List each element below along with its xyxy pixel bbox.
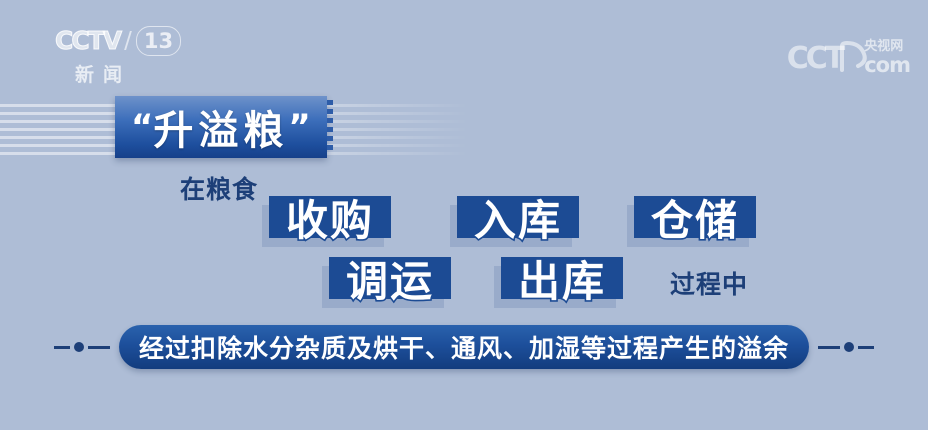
deco-bar-icon [54,346,70,349]
page-title: 升溢粮 [153,98,288,156]
left-decoration [54,342,110,352]
deco-bar-icon [88,346,110,349]
chip-label: 收购 [269,187,391,247]
keyword-chip-ruku: 入库 [457,196,579,238]
deco-bar-icon [818,346,840,349]
cctvcom-chinese-name: 央视网 [864,40,910,54]
bottom-banner-text: 经过扣除水分杂质及烘干、通风、加湿等过程产生的溢余 [139,329,789,365]
cctvcom-text-stack: 央视网 com [864,40,910,76]
bottom-banner-row: 经过扣除水分杂质及烘干、通风、加湿等过程产生的溢余 [0,322,928,372]
chip-label: 调运 [329,248,451,308]
cctv-com-watermark: CCT 央视网 com [787,30,910,76]
keyword-chip-diaoyun: 调运 [329,257,451,299]
cctv13-subtitle: 新闻 [55,60,205,87]
infographic-stage: CCTV / 13 新闻 CCT 央视网 com “ 升溢粮 ” 在粮食 收购 [0,0,928,430]
cctv13-logo: CCTV / 13 新闻 [55,26,205,88]
prefix-label: 在粮食 [180,170,258,206]
keyword-chip-shougou: 收购 [269,196,391,238]
cctvcom-lead-text: CCT [787,42,843,76]
deco-dot-icon [74,342,84,352]
cctv13-logo-row: CCTV / 13 [55,26,205,56]
bottom-banner-pill: 经过扣除水分杂质及烘干、通风、加湿等过程产生的溢余 [119,325,809,369]
cctv13-channel-number: 13 [136,26,181,56]
main-title-banner: “ 升溢粮 ” [115,96,327,158]
right-decoration [818,342,874,352]
chip-label: 仓储 [634,187,756,247]
deco-bar-icon [858,346,874,349]
cctvcom-swoosh-icon [838,40,868,76]
cctv-wordmark: CCTV [55,26,120,56]
chip-label: 出库 [501,248,623,308]
cctvcom-domain-suffix: com [864,54,910,76]
title-close-quote: ” [288,110,310,144]
chip-label: 入库 [457,187,579,247]
keyword-chip-chuku: 出库 [501,257,623,299]
deco-dot-icon [844,342,854,352]
title-open-quote: “ [131,110,153,144]
suffix-label: 过程中 [670,265,748,301]
keyword-chip-cangchu: 仓储 [634,196,756,238]
cctv13-slash-icon: / [124,26,132,56]
